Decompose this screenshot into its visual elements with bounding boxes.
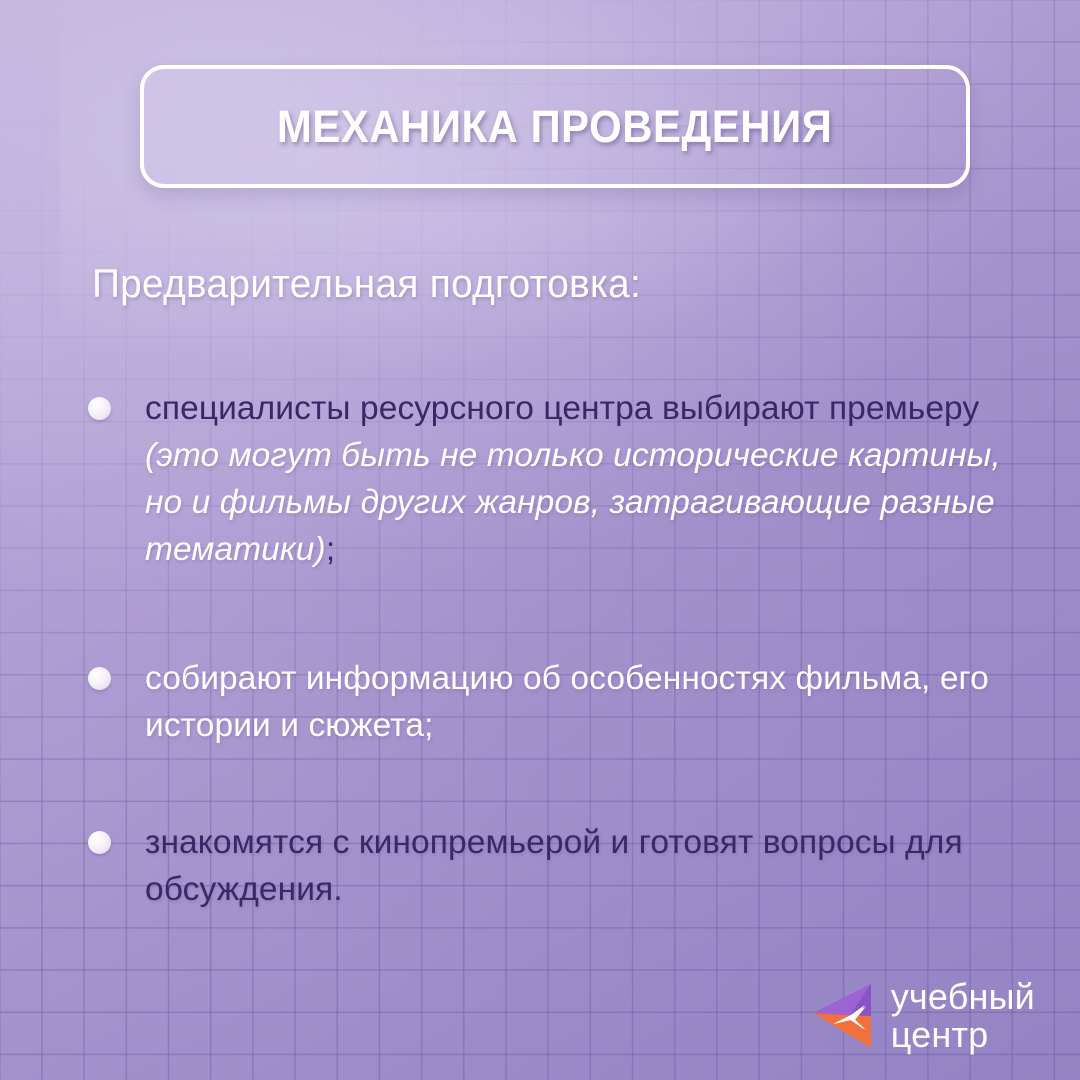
arrow-star-logo-icon <box>809 981 875 1051</box>
bullet-dot-icon <box>88 831 111 854</box>
list-item-text: знакомятся с кинопремьерой и готовят воп… <box>145 824 963 908</box>
list-item-text: специалисты ресурсного центра выбирают п… <box>145 390 1001 568</box>
bullet-list: специалисты ресурсного центра выбирают п… <box>88 385 1018 913</box>
list-item-segment: специалисты ресурсного центра выбирают п… <box>145 390 979 427</box>
slide-canvas: МЕХАНИКА ПРОВЕДЕНИЯ Предварительная подг… <box>0 0 1080 1080</box>
list-item-segment-tail: ; <box>326 531 335 568</box>
bullet-dot-icon <box>88 667 111 690</box>
title-banner: МЕХАНИКА ПРОВЕДЕНИЯ <box>140 65 970 188</box>
list-item: знакомятся с кинопремьерой и готовят воп… <box>88 819 1018 913</box>
bullet-dot-icon <box>88 397 111 420</box>
light-bloom <box>60 0 880 380</box>
section-subtitle: Предварительная подготовка: <box>92 262 641 307</box>
list-item: специалисты ресурсного центра выбирают п… <box>88 385 1018 573</box>
brand-word-line-1: учебный <box>891 978 1035 1016</box>
list-item: собирают информацию об особенностях филь… <box>88 655 1018 749</box>
brand-logo: учебный центр <box>809 978 1035 1054</box>
page-title: МЕХАНИКА ПРОВЕДЕНИЯ <box>277 101 832 153</box>
list-item-segment-emphasis: (это могут быть не только исторические к… <box>145 437 1001 568</box>
brand-wordmark: учебный центр <box>891 978 1035 1054</box>
brand-word-line-2: центр <box>891 1016 1035 1054</box>
list-item-text: собирают информацию об особенностях филь… <box>145 660 989 744</box>
